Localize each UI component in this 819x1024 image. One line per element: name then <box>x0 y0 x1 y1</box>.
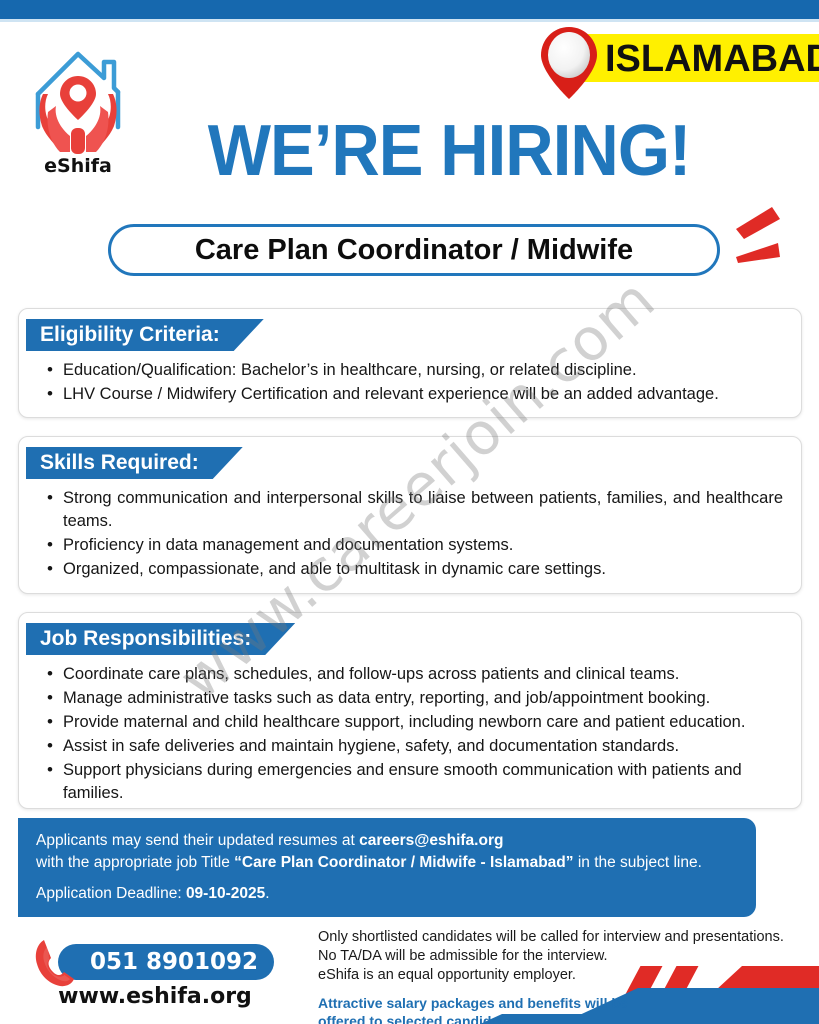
application-deadline: Application Deadline: 09-10-2025. <box>36 885 270 903</box>
apply-line-2-suffix: in the subject line. <box>574 854 702 871</box>
phone-icon <box>32 936 80 988</box>
apply-line-2-prefix: with the appropriate job Title <box>36 854 234 871</box>
section-card-eligibility: Eligibility Criteria: Education/Qualific… <box>18 308 802 418</box>
job-title-text: Care Plan Coordinator / Midwife <box>195 234 633 267</box>
list-item: Support physicians during emergencies an… <box>45 759 783 805</box>
salary-note-line-2: offered to selected candidates. <box>318 1012 808 1024</box>
section-heading-text: Eligibility Criteria: <box>40 323 220 347</box>
list-item: Assist in safe deliveries and maintain h… <box>45 735 783 758</box>
section-heading-eligibility: Eligibility Criteria: <box>26 319 264 351</box>
list-item: Strong communication and interpersonal s… <box>45 487 783 533</box>
section-card-skills: Skills Required: Strong communication an… <box>18 436 802 594</box>
section-heading-text: Skills Required: <box>40 451 199 475</box>
list-item: Organized, compassionate, and able to mu… <box>45 558 783 581</box>
list-item: Proficiency in data management and docum… <box>45 534 783 557</box>
page-title: WE’RE HIRING! <box>29 112 791 190</box>
deadline-label: Application Deadline: <box>36 885 186 902</box>
apply-line-1-prefix: Applicants may send their updated resume… <box>36 832 359 849</box>
skills-list: Strong communication and interpersonal s… <box>45 487 783 582</box>
job-poster: eShifa ISLAMABAD WE’RE HIRING! Care Plan… <box>0 0 819 1024</box>
top-bar-hairline <box>0 19 819 22</box>
footer-notes: Only shortlisted candidates will be call… <box>318 928 808 1024</box>
section-heading-skills: Skills Required: <box>26 447 243 479</box>
responsibilities-list: Coordinate care plans, schedules, and fo… <box>45 663 783 806</box>
salary-note-line-1: Attractive salary packages and benefits … <box>318 994 808 1012</box>
list-item: Provide maternal and child healthcare su… <box>45 711 783 734</box>
city-label: ISLAMABAD <box>605 38 819 81</box>
deadline-suffix: . <box>265 885 269 902</box>
apply-subject-title: “Care Plan Coordinator / Midwife - Islam… <box>234 854 573 871</box>
note-line-1: Only shortlisted candidates will be call… <box>318 928 808 947</box>
note-line-2: No TA/DA will be admissible for the inte… <box>318 947 808 966</box>
deadline-date: 09-10-2025 <box>186 885 265 902</box>
apply-line-1: Applicants may send their updated resume… <box>36 830 736 852</box>
section-heading-text: Job Responsibilities: <box>40 627 251 651</box>
eligibility-list: Education/Qualification: Bachelor’s in h… <box>45 359 783 407</box>
location-pin-icon <box>538 25 600 101</box>
list-item: LHV Course / Midwifery Certification and… <box>45 383 783 406</box>
accent-marks-icon <box>728 205 798 275</box>
list-item: Coordinate care plans, schedules, and fo… <box>45 663 783 686</box>
section-heading-responsibilities: Job Responsibilities: <box>26 623 295 655</box>
list-item: Manage administrative tasks such as data… <box>45 687 783 710</box>
note-line-3: eShifa is an equal opportunity employer. <box>318 966 808 985</box>
top-blue-bar <box>0 0 819 19</box>
apply-instructions-banner: Applicants may send their updated resume… <box>18 818 756 917</box>
list-item: Education/Qualification: Bachelor’s in h… <box>45 359 783 382</box>
apply-email[interactable]: careers@eshifa.org <box>359 832 503 849</box>
phone-number[interactable]: 051 8901092 <box>58 944 274 980</box>
job-title-pill: Care Plan Coordinator / Midwife <box>108 224 720 276</box>
section-card-responsibilities: Job Responsibilities: Coordinate care pl… <box>18 612 802 809</box>
apply-line-2: with the appropriate job Title “Care Pla… <box>36 852 736 874</box>
